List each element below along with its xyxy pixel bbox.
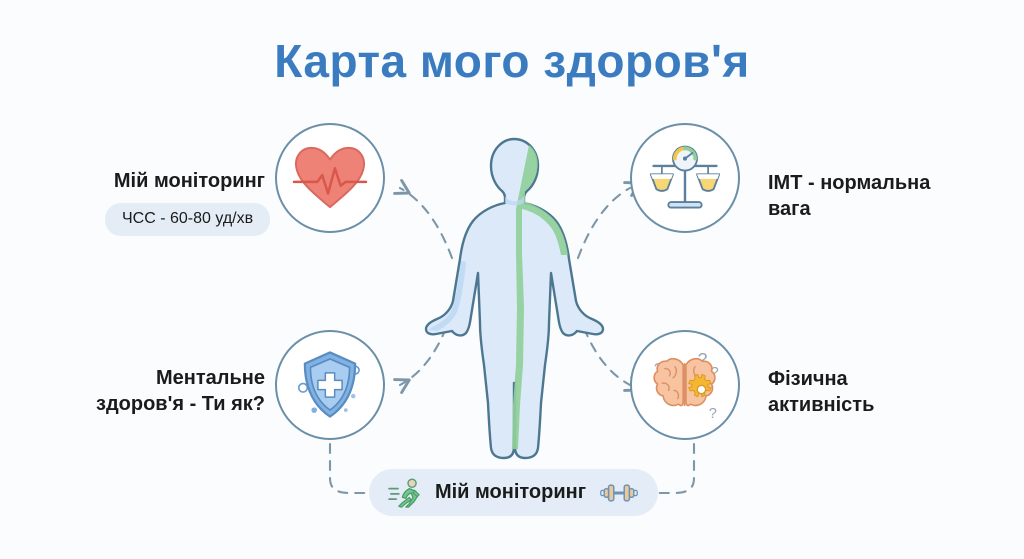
node-icon-mental[interactable] bbox=[275, 330, 385, 440]
infographic-canvas: Карта мого здоров'я bbox=[0, 0, 1024, 559]
running-person-icon bbox=[388, 478, 422, 508]
balance-scales-icon bbox=[646, 141, 724, 215]
label-mental-line2: здоров'я - Ти як? bbox=[30, 391, 265, 417]
heart-rate-badge: ЧСС - 60-80 уд/хв bbox=[105, 203, 270, 236]
label-mental: Ментальне здоров'я - Ти як? bbox=[30, 365, 265, 418]
bubble bbox=[351, 394, 355, 398]
page-title: Карта мого здоров'я bbox=[0, 34, 1024, 88]
connector-physical-to-bar bbox=[658, 444, 694, 493]
shield-cross-icon bbox=[290, 345, 370, 425]
bubble bbox=[311, 407, 317, 413]
label-bmi: ІМТ - нормальна вага bbox=[768, 170, 998, 223]
label-physical: Фізична активність bbox=[768, 366, 988, 419]
dumbbell-icon bbox=[599, 481, 639, 505]
brain-left-lobe bbox=[654, 359, 683, 406]
label-mental-line1: Ментальне bbox=[30, 365, 265, 391]
label-monitoring: Мій моніторинг bbox=[20, 168, 265, 194]
node-icon-physical[interactable]: ? ? ? ? bbox=[630, 330, 740, 440]
brain-gear-icon: ? ? ? ? bbox=[643, 346, 727, 424]
heart-pulse-icon bbox=[291, 143, 369, 213]
bottom-bar-label: Мій моніторинг bbox=[435, 481, 586, 504]
label-bmi-line1: ІМТ - нормальна bbox=[768, 170, 998, 196]
heart-shape bbox=[296, 148, 364, 207]
bubble bbox=[299, 384, 308, 393]
node-icon-bmi[interactable] bbox=[630, 123, 740, 233]
bubble bbox=[344, 408, 348, 412]
question-mark: ? bbox=[709, 406, 717, 422]
connector-mental-to-bar bbox=[330, 444, 367, 493]
node-icon-monitoring[interactable] bbox=[275, 123, 385, 233]
label-physical-line2: активність bbox=[768, 392, 988, 418]
label-physical-line1: Фізична bbox=[768, 366, 988, 392]
human-body-figure bbox=[417, 133, 612, 463]
label-bmi-line2: вага bbox=[768, 196, 998, 222]
bottom-monitoring-bar[interactable]: Мій моніторинг bbox=[369, 469, 658, 516]
